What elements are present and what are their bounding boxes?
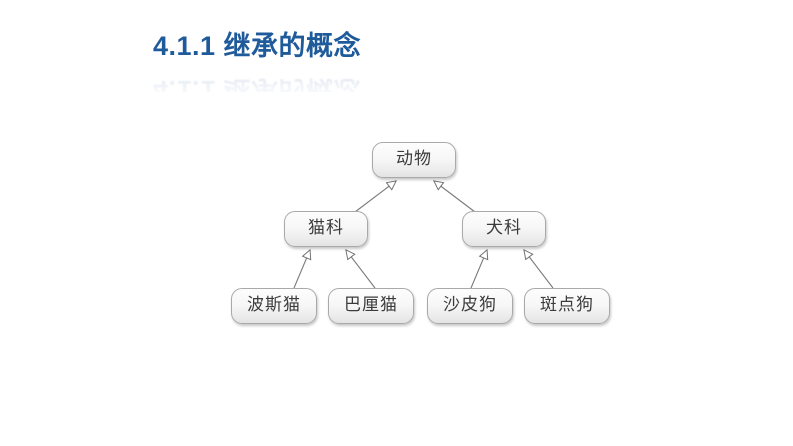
node-animal-label: 动物: [396, 151, 432, 169]
node-persian-cat-label: 波斯猫: [247, 297, 301, 315]
diagram-edges: [0, 0, 793, 446]
node-shar-pei-dog-label: 沙皮狗: [443, 297, 497, 315]
edge-balinese-to-felidae: [346, 250, 375, 288]
inheritance-diagram: 动物 猫科 犬科 波斯猫 巴厘猫 沙皮狗 斑点狗: [0, 0, 793, 446]
slide-canvas: 4.1.1 继承的概念 4.1.1 继承的概念: [0, 0, 793, 446]
node-balinese-cat[interactable]: 巴厘猫: [328, 288, 414, 324]
node-felidae-label: 猫科: [308, 220, 344, 238]
edge-dalmatian-to-canidae: [524, 250, 553, 288]
edge-canidae-to-animal: [434, 181, 475, 212]
edge-persian-to-felidae: [294, 250, 310, 288]
node-canidae-label: 犬科: [486, 220, 522, 238]
node-canidae[interactable]: 犬科: [462, 211, 546, 247]
edge-felidae-to-animal: [355, 181, 396, 212]
node-persian-cat[interactable]: 波斯猫: [231, 288, 317, 324]
node-dalmatian-dog[interactable]: 斑点狗: [524, 288, 610, 324]
node-dalmatian-dog-label: 斑点狗: [540, 297, 594, 315]
node-balinese-cat-label: 巴厘猫: [344, 297, 398, 315]
node-felidae[interactable]: 猫科: [284, 211, 368, 247]
node-animal[interactable]: 动物: [372, 142, 456, 178]
node-shar-pei-dog[interactable]: 沙皮狗: [427, 288, 513, 324]
edge-sharpei-to-canidae: [471, 250, 487, 288]
